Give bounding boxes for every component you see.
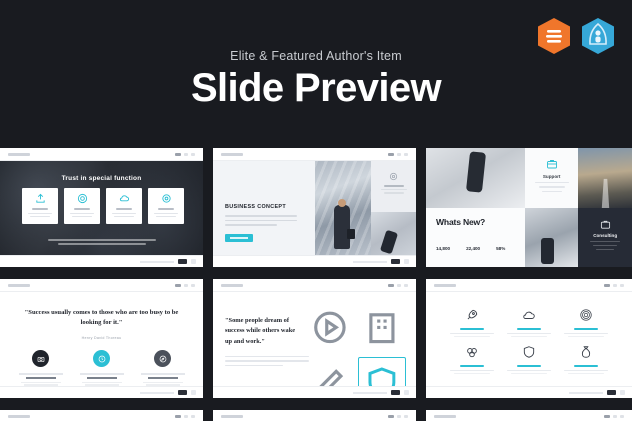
slide-thumbnail-9[interactable] bbox=[426, 410, 632, 421]
nav-item[interactable] bbox=[613, 415, 617, 418]
quote-attribution: Henry David Thoreau bbox=[0, 336, 203, 340]
nav-item[interactable] bbox=[404, 153, 408, 156]
slide-header bbox=[426, 410, 632, 421]
whats-new-title: Whats New? bbox=[436, 217, 515, 227]
rocket-icon bbox=[465, 308, 479, 322]
nav-item[interactable] bbox=[404, 415, 408, 418]
page-indicator[interactable] bbox=[191, 259, 196, 264]
slide-photo-shaking-hands bbox=[525, 208, 579, 268]
fingerprint-icon bbox=[579, 308, 593, 322]
stats-row: 14,800 22,400 58% bbox=[436, 237, 515, 255]
nav-item[interactable] bbox=[175, 153, 181, 156]
slide-nav bbox=[175, 153, 195, 156]
slide-text-panel: BUSINESS CONCEPT bbox=[213, 161, 315, 255]
quote-panel: "Some people dream of success while othe… bbox=[213, 292, 306, 386]
team-item[interactable] bbox=[137, 350, 189, 386]
feature-cell[interactable] bbox=[501, 302, 558, 339]
nav-item[interactable] bbox=[620, 284, 624, 287]
hero-subtitle: Elite & Featured Author's Item bbox=[0, 49, 632, 63]
team-item-row bbox=[10, 350, 193, 386]
consulting-card[interactable]: Consulting bbox=[578, 208, 632, 268]
read-more-button[interactable] bbox=[225, 234, 253, 242]
shield-icon bbox=[522, 345, 536, 359]
nav-item[interactable] bbox=[184, 415, 188, 418]
slide-header bbox=[213, 279, 416, 292]
slide-header bbox=[426, 279, 632, 292]
gear-circle-icon bbox=[388, 169, 399, 180]
slide-photo-background: Trust in special function bbox=[0, 161, 203, 255]
consulting-card-label: Consulting bbox=[593, 233, 617, 238]
page-indicator[interactable] bbox=[391, 390, 400, 395]
nav-item[interactable] bbox=[191, 284, 195, 287]
slide-nav bbox=[604, 284, 624, 287]
nav-item[interactable] bbox=[184, 284, 188, 287]
slide-footer bbox=[213, 255, 416, 267]
slide-thumbnail-8[interactable] bbox=[213, 410, 416, 421]
stat-item: 58% bbox=[496, 237, 505, 255]
stat-value: 22,400 bbox=[466, 246, 480, 251]
feature-card-row bbox=[22, 188, 184, 224]
nav-item[interactable] bbox=[184, 153, 188, 156]
stat-value: 14,800 bbox=[436, 246, 450, 251]
support-card[interactable]: Support bbox=[525, 148, 579, 208]
slide-header bbox=[0, 410, 203, 421]
nav-item[interactable] bbox=[388, 415, 394, 418]
page-indicator[interactable] bbox=[620, 390, 625, 395]
nav-item[interactable] bbox=[388, 284, 394, 287]
nav-item[interactable] bbox=[613, 284, 617, 287]
slide-nav bbox=[604, 415, 624, 418]
slide-nav bbox=[175, 415, 195, 418]
hero-banner: Elite & Featured Author's Item Slide Pre… bbox=[0, 0, 632, 148]
slide-header bbox=[0, 279, 203, 292]
briefcase-icon bbox=[600, 217, 611, 228]
slide-body bbox=[0, 410, 203, 421]
slide-thumbnail-7[interactable] bbox=[0, 410, 203, 421]
slide-title: Trust in special function bbox=[0, 175, 203, 182]
nav-item[interactable] bbox=[604, 415, 610, 418]
slide-paragraph bbox=[225, 215, 297, 229]
nav-item[interactable] bbox=[191, 415, 195, 418]
feature-card[interactable] bbox=[148, 188, 184, 224]
play-icon bbox=[311, 336, 349, 353]
slide-logo bbox=[434, 284, 456, 287]
whats-new-panel: Whats New? 14,800 22,400 58% bbox=[426, 208, 525, 268]
page-indicator[interactable] bbox=[178, 390, 187, 395]
feature-card-grid bbox=[306, 292, 416, 386]
feature-card[interactable] bbox=[106, 188, 142, 224]
slide-body bbox=[213, 410, 416, 421]
feature-card[interactable] bbox=[358, 302, 406, 353]
slide-nav bbox=[388, 153, 408, 156]
gears-icon bbox=[465, 345, 479, 359]
nav-item[interactable] bbox=[388, 153, 394, 156]
nav-item[interactable] bbox=[397, 284, 401, 287]
feature-cell[interactable] bbox=[557, 302, 614, 339]
feature-card[interactable] bbox=[64, 188, 100, 224]
compass-icon bbox=[154, 350, 171, 367]
settings-gear-icon bbox=[161, 193, 172, 204]
team-item[interactable] bbox=[15, 350, 67, 386]
slide-caption bbox=[0, 239, 203, 245]
feature-cell[interactable] bbox=[444, 339, 501, 376]
slide-title: BUSINESS CONCEPT bbox=[225, 204, 286, 210]
slide-photo-road bbox=[578, 148, 632, 208]
feature-cell[interactable] bbox=[501, 339, 558, 376]
slide-footer bbox=[0, 386, 203, 398]
slide-logo bbox=[221, 415, 243, 418]
nav-item[interactable] bbox=[175, 284, 181, 287]
slide-footer bbox=[0, 255, 203, 267]
slide-thumbnail-6[interactable] bbox=[426, 279, 632, 398]
feature-card[interactable] bbox=[306, 302, 354, 353]
slide-header bbox=[213, 148, 416, 161]
nav-item[interactable] bbox=[604, 284, 610, 287]
slide-body: "Some people dream of success while othe… bbox=[213, 292, 416, 386]
slide-thumbnail-4[interactable]: "Success usually comes to those who are … bbox=[0, 279, 203, 398]
slide-header bbox=[0, 148, 203, 161]
slide-nav bbox=[388, 284, 408, 287]
nav-item[interactable] bbox=[404, 284, 408, 287]
stat-item: 14,800 bbox=[436, 237, 450, 255]
page-indicator[interactable] bbox=[404, 259, 409, 264]
briefcase-icon bbox=[546, 157, 558, 169]
feature-cell[interactable] bbox=[557, 339, 614, 376]
slide-logo bbox=[8, 415, 30, 418]
slide-header bbox=[213, 410, 416, 421]
feature-card[interactable] bbox=[22, 188, 58, 224]
slide-nav bbox=[388, 415, 408, 418]
camera-icon bbox=[32, 350, 49, 367]
slide-side-column bbox=[371, 161, 416, 255]
slide-logo bbox=[8, 153, 30, 156]
slide-footer bbox=[213, 386, 416, 398]
slide-nav bbox=[175, 284, 195, 287]
target-icon bbox=[77, 193, 88, 204]
slide-body: BUSINESS CONCEPT bbox=[213, 161, 416, 255]
slide-body: "Success usually comes to those who are … bbox=[0, 292, 203, 386]
slide-thumbnail-3[interactable]: Support Whats New? 14,800 22,400 bbox=[426, 148, 632, 267]
page-indicator[interactable] bbox=[404, 390, 409, 395]
nav-item[interactable] bbox=[191, 153, 195, 156]
stat-value: 58% bbox=[496, 246, 505, 251]
slide-logo bbox=[221, 284, 243, 287]
slide-logo bbox=[434, 415, 456, 418]
support-card-label: Support bbox=[543, 174, 561, 179]
cloud-icon bbox=[522, 308, 536, 322]
slide-thumbnail-1[interactable]: Trust in special function bbox=[0, 148, 203, 267]
nav-item[interactable] bbox=[397, 415, 401, 418]
slide-logo bbox=[8, 284, 30, 287]
slide-thumbnail-2[interactable]: BUSINESS CONCEPT bbox=[213, 148, 416, 267]
nav-item[interactable] bbox=[397, 153, 401, 156]
page-indicator[interactable] bbox=[191, 390, 196, 395]
money-bag-icon bbox=[579, 345, 593, 359]
feature-cell[interactable] bbox=[444, 302, 501, 339]
slide-photo-businessman bbox=[315, 161, 372, 255]
building-icon bbox=[363, 336, 401, 353]
cloud-search-icon bbox=[119, 193, 130, 204]
page-indicator[interactable] bbox=[178, 259, 187, 264]
team-item[interactable] bbox=[76, 350, 128, 386]
slide-footer bbox=[426, 386, 632, 398]
nav-item[interactable] bbox=[620, 415, 624, 418]
clock-icon bbox=[93, 350, 110, 367]
stat-item: 22,400 bbox=[466, 237, 480, 255]
slide-thumbnail-grid: Trust in special function bbox=[0, 148, 632, 421]
feature-icon-grid bbox=[426, 292, 632, 386]
page-indicator[interactable] bbox=[391, 259, 400, 264]
quote-text: "Some people dream of success while othe… bbox=[225, 316, 303, 347]
slide-body: Support Whats New? 14,800 22,400 bbox=[426, 148, 632, 267]
page-indicator[interactable] bbox=[607, 390, 616, 395]
slide-photo-walking bbox=[426, 148, 525, 208]
slide-body bbox=[426, 410, 632, 421]
slide-thumbnail-5[interactable]: "Some people dream of success while othe… bbox=[213, 279, 416, 398]
quote-paragraph bbox=[225, 356, 309, 367]
quote-text: "Success usually comes to those who are … bbox=[18, 308, 185, 328]
slide-photo-handshake bbox=[371, 212, 416, 255]
page-title: Slide Preview bbox=[0, 66, 632, 111]
upload-box-icon bbox=[35, 193, 46, 204]
nav-item[interactable] bbox=[175, 415, 181, 418]
service-card[interactable] bbox=[371, 161, 416, 212]
slide-logo bbox=[221, 153, 243, 156]
